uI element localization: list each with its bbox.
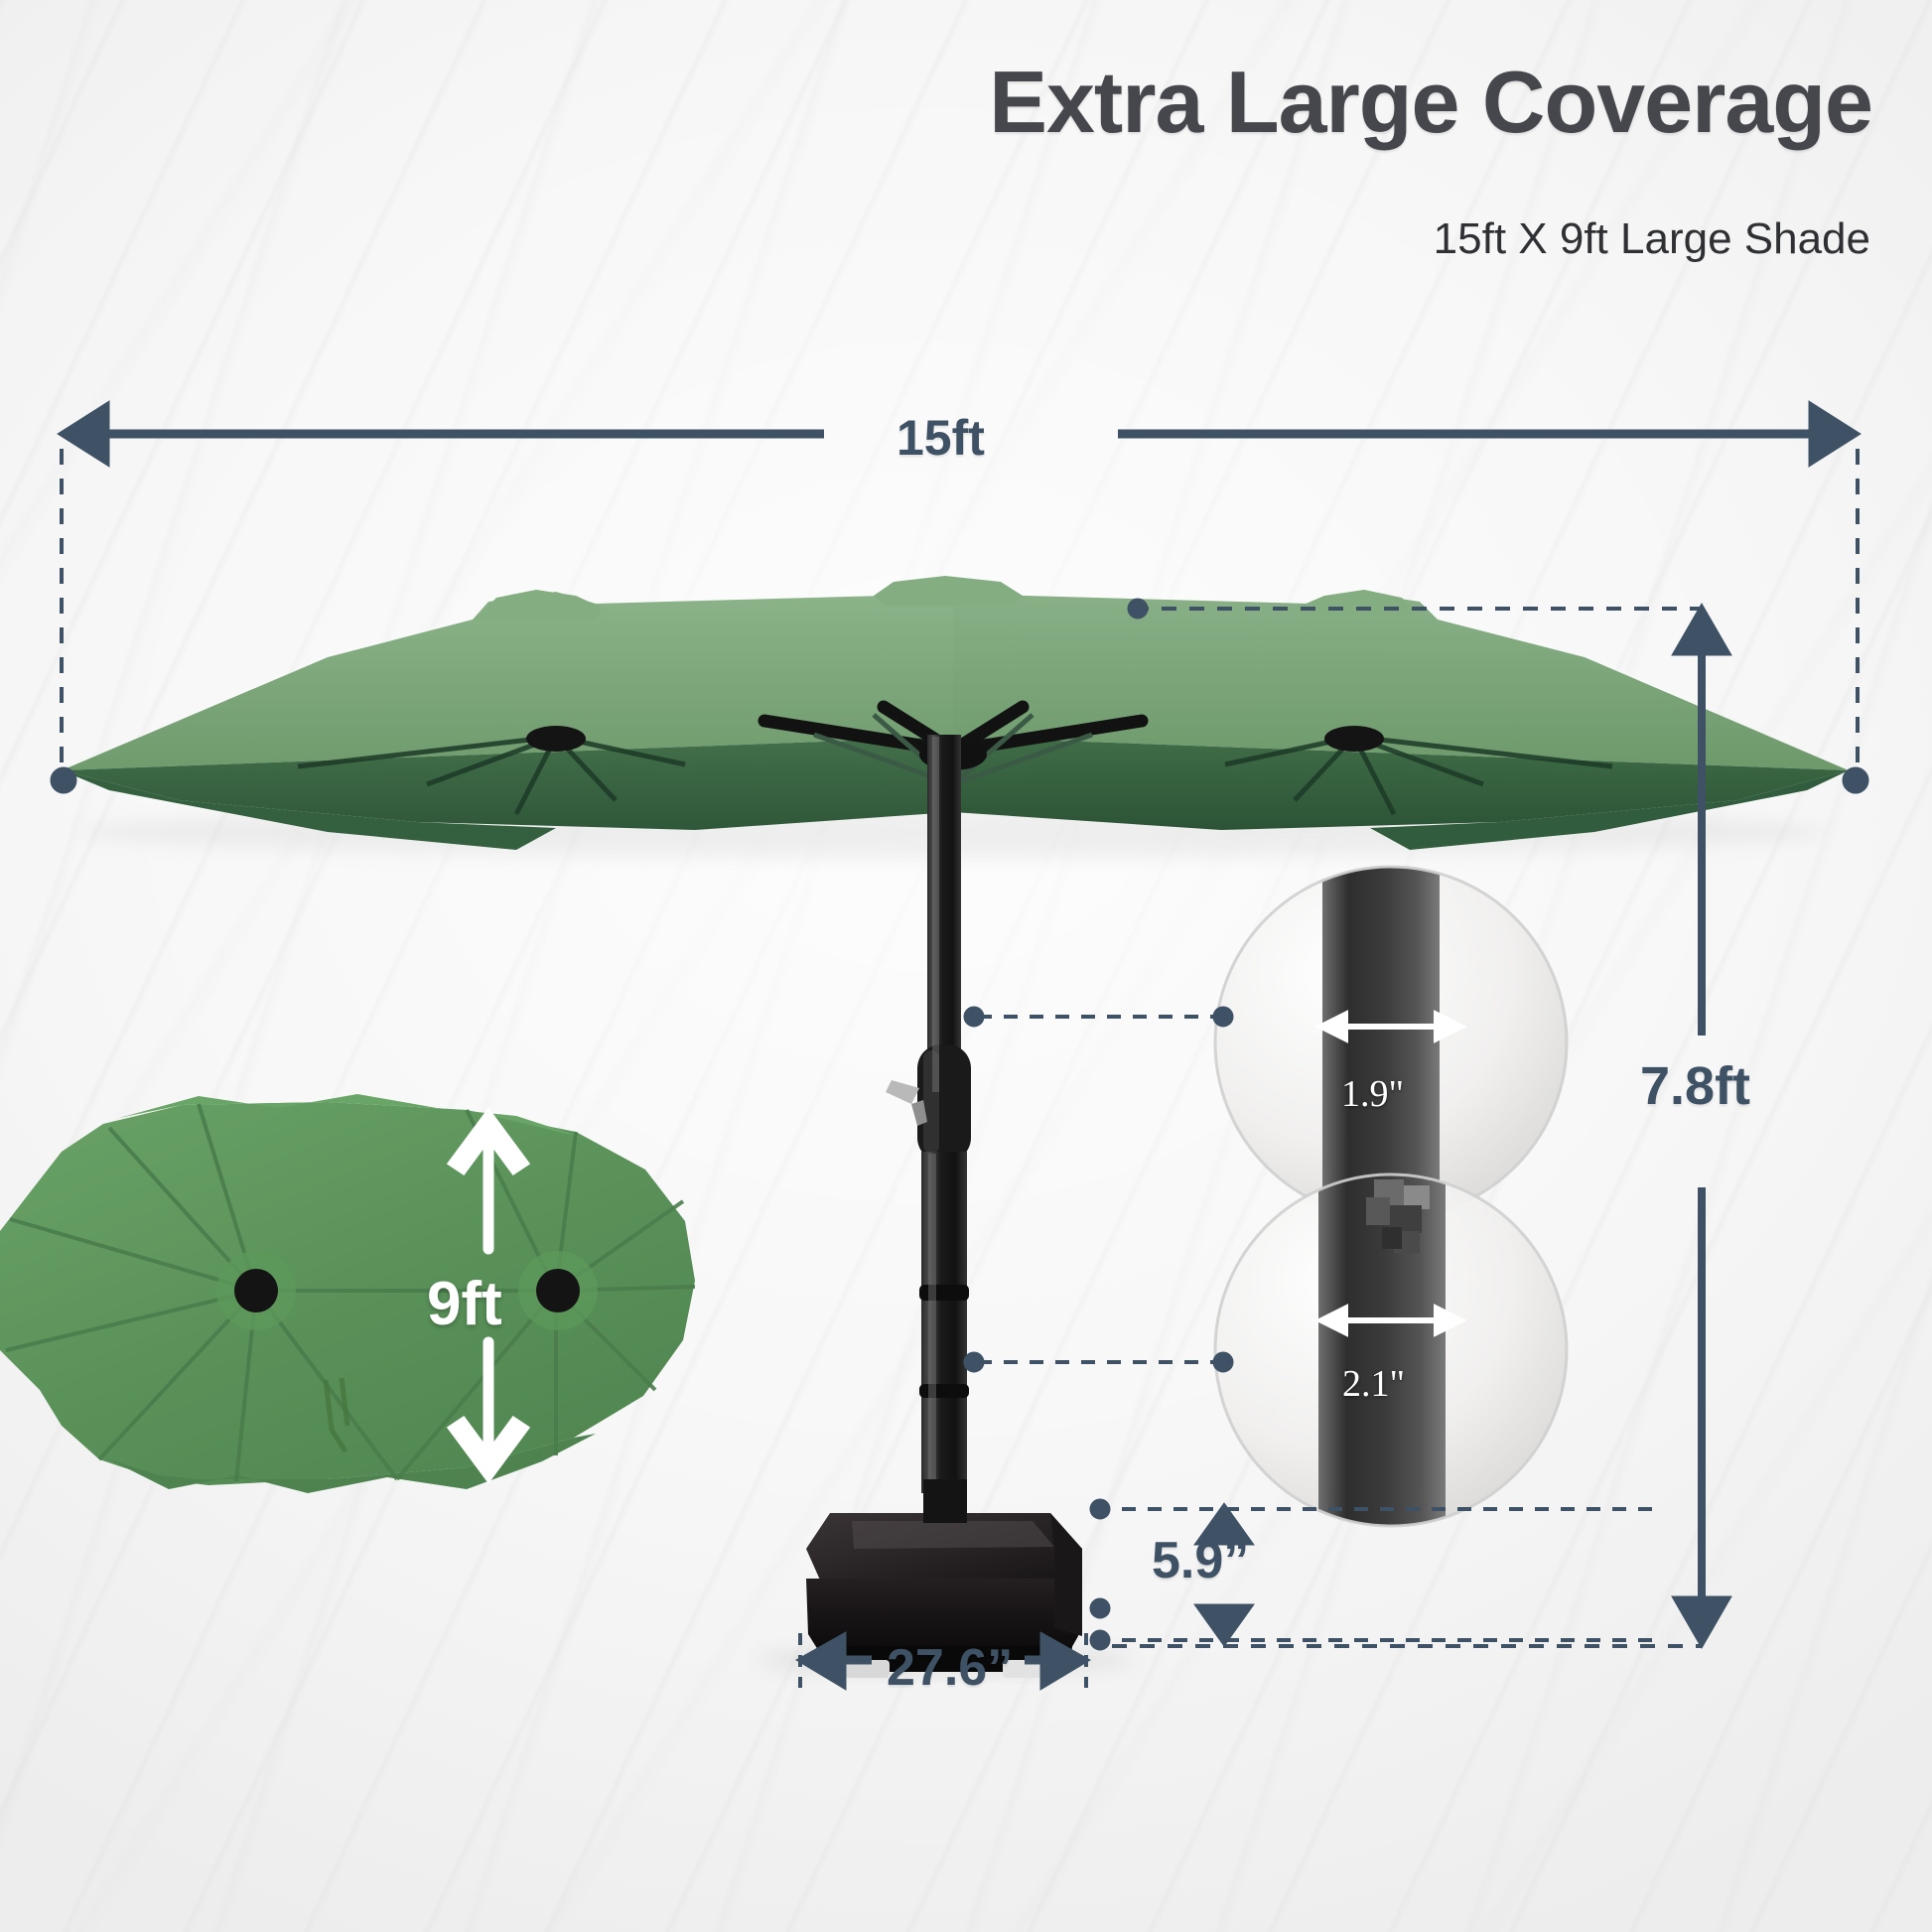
- arrow-up-icon: [1672, 604, 1731, 655]
- leader-dot-icon: [964, 1352, 984, 1372]
- leader-dot-icon: [1213, 1007, 1233, 1027]
- leader-dot-icon: [964, 1007, 984, 1027]
- dimension-label-base-height: 5.9”: [1152, 1531, 1249, 1590]
- callout-label-upper-pole: 1.9": [1341, 1072, 1404, 1116]
- leader-dot-icon: [1213, 1352, 1233, 1372]
- callout-label-lower-pole: 2.1": [1342, 1362, 1405, 1406]
- arrow-right-icon: [1809, 401, 1861, 467]
- page-title: Extra Large Coverage: [989, 52, 1872, 153]
- leader-dot-icon: [1844, 769, 1867, 793]
- arrow-right-icon: [1040, 1632, 1090, 1690]
- leader-dot-icon: [1090, 1630, 1110, 1650]
- arrow-left-icon: [58, 401, 109, 467]
- leader-dot-icon: [1128, 599, 1148, 619]
- leader-dot-icon: [1090, 1499, 1110, 1519]
- dimension-label-base-width: 27.6”: [887, 1638, 1013, 1698]
- arrow-down-icon: [1672, 1596, 1731, 1648]
- leader-dot-icon: [51, 767, 76, 793]
- page-subtitle: 15ft X 9ft Large Shade: [1434, 214, 1870, 264]
- dimension-label-width: 15ft: [897, 409, 985, 467]
- callout-leaders: [964, 1007, 1233, 1372]
- dimension-height-78ft: [1112, 599, 1867, 1648]
- dimension-label-canopy-depth: 9ft: [427, 1269, 502, 1339]
- leader-dot-icon: [1090, 1598, 1110, 1618]
- arrow-left-icon: [796, 1632, 846, 1690]
- infographic-canvas: Extra Large Coverage 15ft X 9ft Large Sh…: [0, 0, 1932, 1932]
- dimension-label-height: 7.8ft: [1640, 1055, 1750, 1117]
